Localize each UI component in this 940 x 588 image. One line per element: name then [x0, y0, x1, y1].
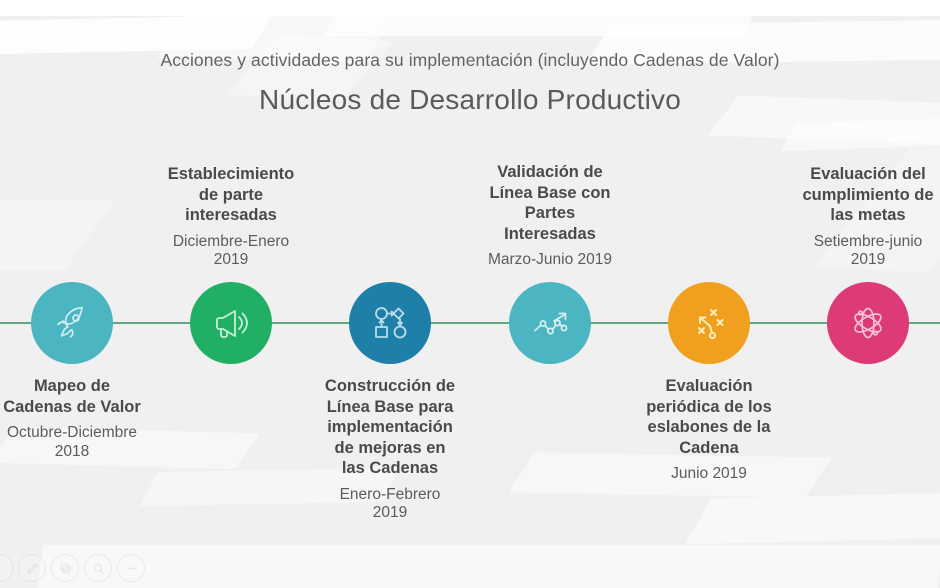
timeline-label-2: Establecimiento de parte interesadas Dic… [136, 164, 326, 270]
strategy-icon [686, 300, 732, 346]
timeline-node-4[interactable] [509, 282, 591, 364]
pencil-icon [26, 562, 39, 575]
flowchart-icon [367, 300, 413, 346]
milestone-name-6: Evaluación del cumplimiento de las metas [802, 165, 933, 224]
floating-toolbar[interactable] [2, 554, 145, 582]
timeline-axis [0, 322, 940, 324]
slide-canvas: Acciones y actividades para su implement… [0, 0, 940, 588]
megaphone-icon [208, 300, 254, 346]
timeline-label-4: Validación de Línea Base con Partes Inte… [450, 162, 650, 270]
timeline-label-3: Construcción de Línea Base para implemen… [293, 376, 488, 523]
milestone-name-2: Establecimiento de parte interesadas [168, 165, 295, 224]
timeline-node-1[interactable] [31, 282, 113, 364]
milestone-date-5: Junio 2019 [617, 465, 802, 484]
milestone-date-1: Octubre-Diciembre 2018 [0, 424, 160, 462]
milestone-date-4: Marzo-Junio 2019 [450, 251, 650, 270]
slide-subtitle: Acciones y actividades para su implement… [0, 50, 940, 71]
timeline-label-1: Mapeo de Cadenas de Valor Octubre-Diciem… [0, 376, 160, 462]
slide-title: Núcleos de Desarrollo Productivo [0, 84, 940, 116]
toolbar-pencil-button[interactable] [18, 554, 46, 582]
milestone-name-5: Evaluación periódica de los eslabones de… [646, 377, 772, 457]
milestone-name-1: Mapeo de Cadenas de Valor [3, 377, 141, 416]
toolbar-edge [0, 554, 13, 582]
more-icon [125, 562, 138, 575]
milestone-date-6: Setiembre-junio 2019 [776, 233, 940, 271]
timeline-node-2[interactable] [190, 282, 272, 364]
milestone-date-3: Enero-Febrero 2019 [293, 486, 488, 524]
timeline-node-3[interactable] [349, 282, 431, 364]
toolbar-more-button[interactable] [117, 554, 145, 582]
line-chart-icon [526, 299, 574, 347]
milestone-date-2: Diciembre-Enero 2019 [136, 233, 326, 271]
rocket-icon [50, 301, 94, 345]
copy-icon [59, 562, 72, 575]
search-icon [92, 562, 105, 575]
milestone-name-4: Validación de Línea Base con Partes Inte… [489, 163, 610, 243]
milestone-name-3: Construcción de Línea Base para implemen… [325, 377, 455, 477]
atom-icon [844, 299, 892, 347]
toolbar-search-button[interactable] [84, 554, 112, 582]
background-top-edge [0, 0, 940, 16]
timeline-label-6: Evaluación del cumplimiento de las metas… [776, 164, 940, 270]
toolbar-copy-button[interactable] [51, 554, 79, 582]
timeline-node-6[interactable] [827, 282, 909, 364]
timeline-node-5[interactable] [668, 282, 750, 364]
timeline-label-5: Evaluación periódica de los eslabones de… [617, 376, 802, 484]
